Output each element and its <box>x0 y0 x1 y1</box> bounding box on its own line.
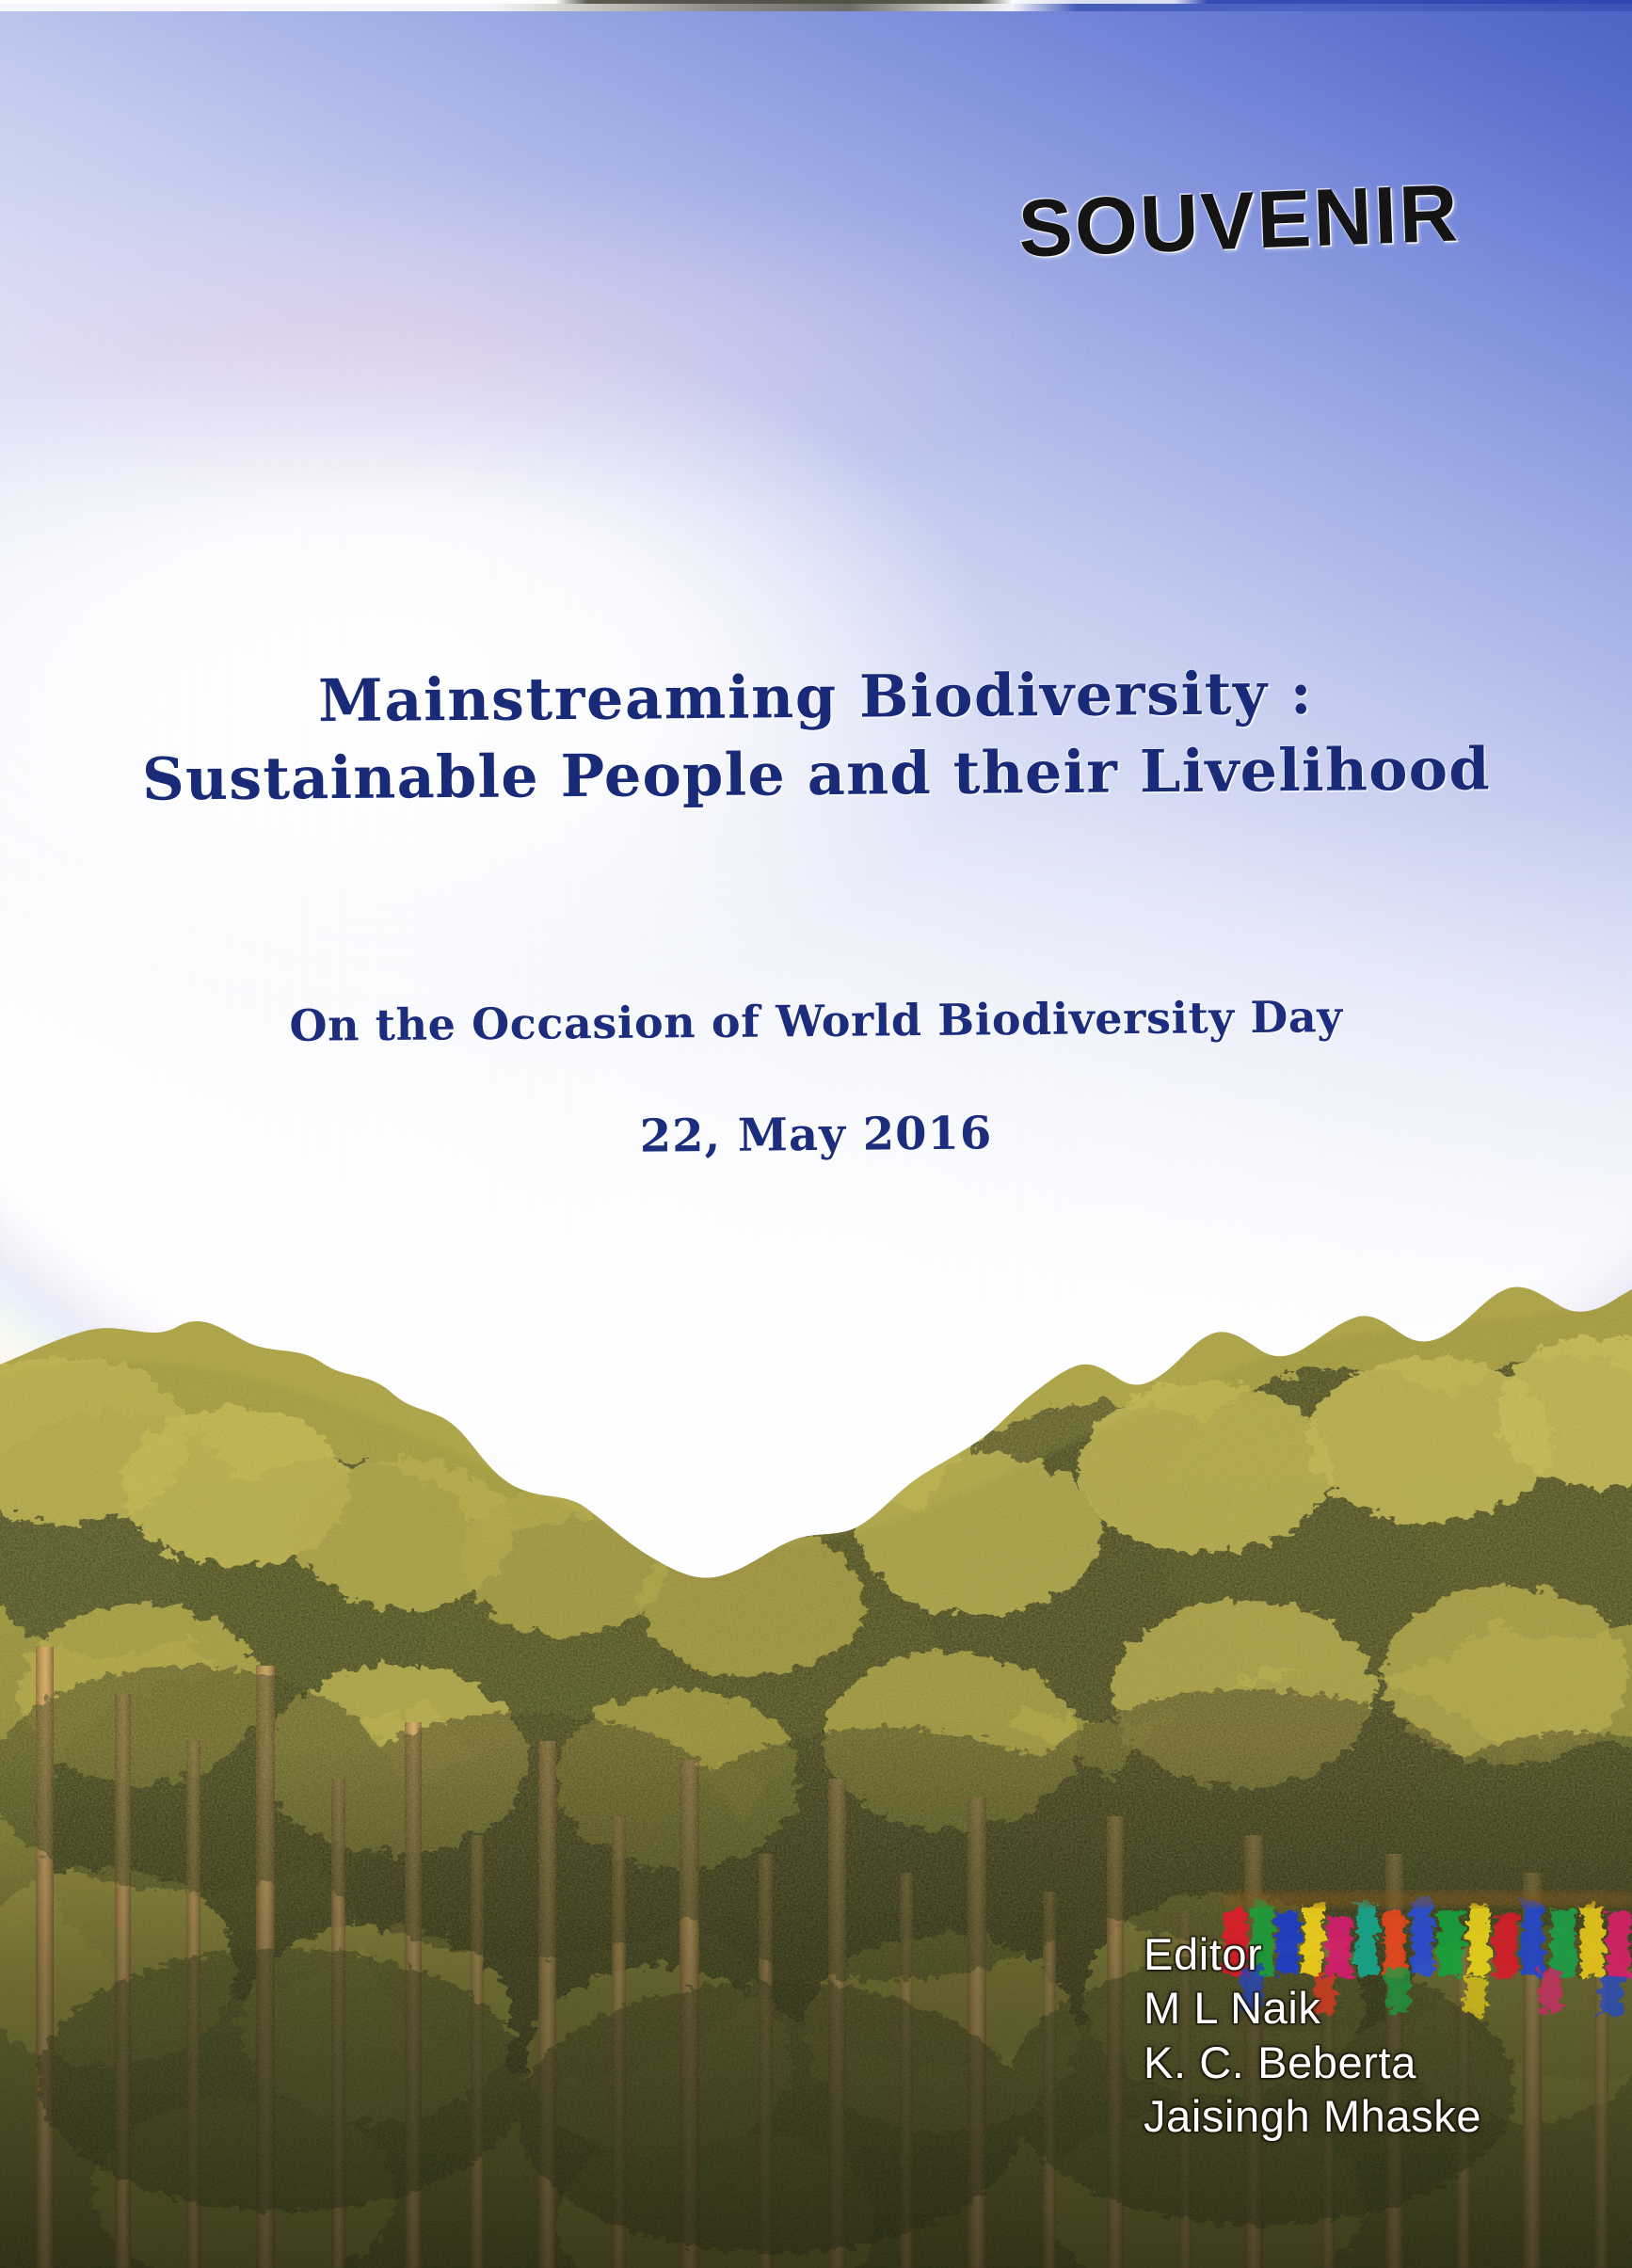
book-cover-page: SOUVENIR Mainstreaming Biodiversity : Su… <box>0 0 1632 2268</box>
editor-name-2: K. C. Beberta <box>1144 2036 1481 2089</box>
editor-credits: Editor M L Naik K. C. Beberta Jaisingh M… <box>1144 1927 1481 2143</box>
editor-heading: Editor <box>1144 1927 1481 1981</box>
editor-name-1: M L Naik <box>1144 1981 1481 2035</box>
title-line-1: Mainstreaming Biodiversity : <box>0 652 1632 742</box>
souvenir-banner-label: SOUVENIR <box>1016 167 1462 276</box>
editor-name-3: Jaisingh Mhaske <box>1144 2089 1481 2143</box>
cover-title: Mainstreaming Biodiversity : Sustainable… <box>0 652 1632 819</box>
title-line-2: Sustainable People and their Livelihood <box>0 729 1632 819</box>
scan-edge-artifact-highlight <box>0 0 1632 4</box>
occasion-text: On the Occasion of World Biodiversity Da… <box>289 991 1343 1051</box>
event-date: 22, May 2016 <box>639 1107 992 1162</box>
